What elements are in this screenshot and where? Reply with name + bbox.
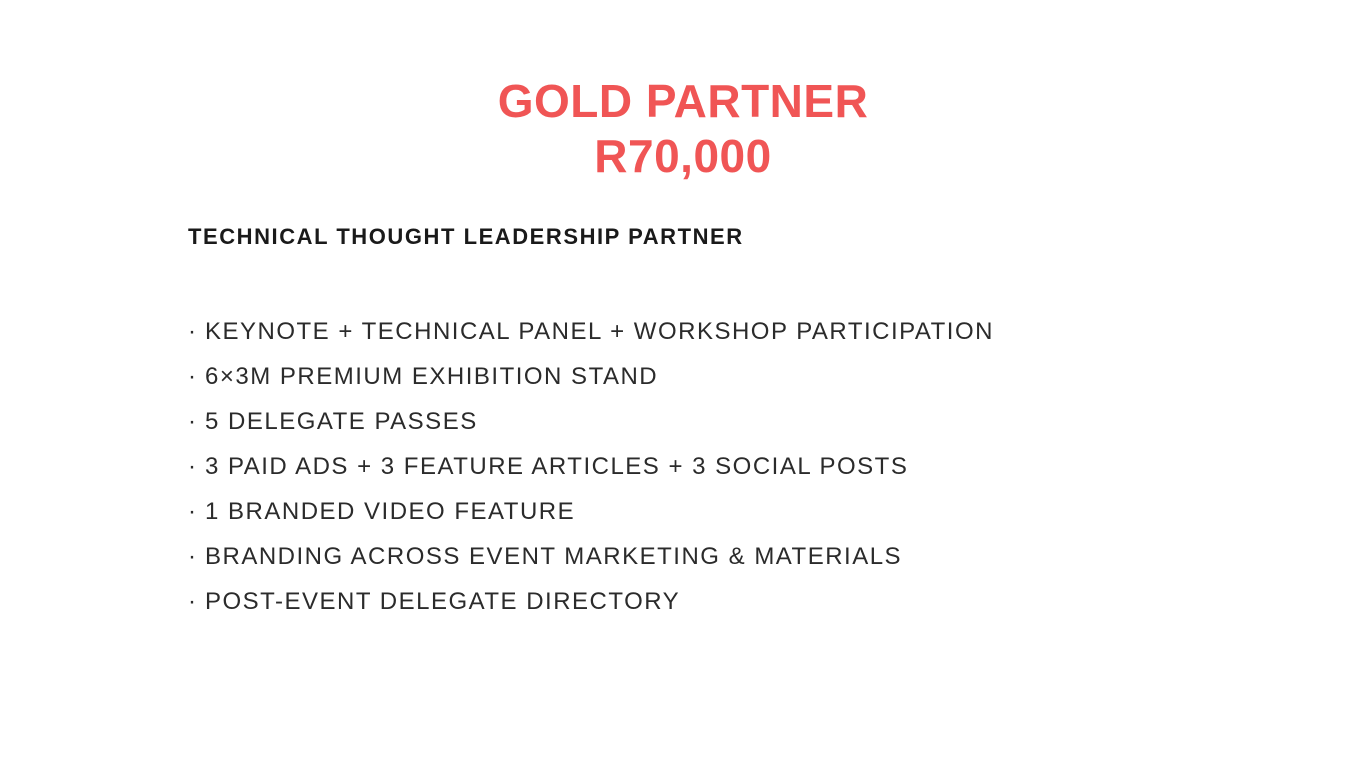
sponsorship-slide: GOLD PARTNER R70,000 TECHNICAL THOUGHT L… — [0, 0, 1366, 768]
list-item-label: KEYNOTE + TECHNICAL PANEL + WORKSHOP PAR… — [205, 318, 994, 345]
bullet-icon: · — [188, 534, 205, 579]
partner-price: R70,000 — [0, 133, 1366, 179]
list-item-label: 5 DELEGATE PASSES — [205, 408, 478, 435]
partner-tier-title: GOLD PARTNER — [0, 78, 1366, 124]
bullet-icon: · — [188, 354, 205, 399]
list-item: ·6×3M PREMIUM EXHIBITION STAND — [188, 354, 1288, 399]
list-item-label: BRANDING ACROSS EVENT MARKETING & MATERI… — [205, 543, 902, 570]
bullet-icon: · — [188, 489, 205, 534]
bullet-icon: · — [188, 444, 205, 489]
title-block: GOLD PARTNER R70,000 — [0, 78, 1366, 179]
list-item: ·BRANDING ACROSS EVENT MARKETING & MATER… — [188, 534, 1288, 579]
list-item-label: 1 BRANDED VIDEO FEATURE — [205, 498, 575, 525]
partner-subtitle: TECHNICAL THOUGHT LEADERSHIP PARTNER — [188, 223, 744, 251]
benefits-list: ·KEYNOTE + TECHNICAL PANEL + WORKSHOP PA… — [188, 309, 1288, 624]
list-item: ·1 BRANDED VIDEO FEATURE — [188, 489, 1288, 534]
list-item-label: POST-EVENT DELEGATE DIRECTORY — [205, 588, 680, 615]
bullet-icon: · — [188, 579, 205, 624]
bullet-icon: · — [188, 309, 205, 354]
list-item: ·3 PAID ADS + 3 FEATURE ARTICLES + 3 SOC… — [188, 444, 1288, 489]
list-item: ·KEYNOTE + TECHNICAL PANEL + WORKSHOP PA… — [188, 309, 1288, 354]
list-item-label: 6×3M PREMIUM EXHIBITION STAND — [205, 363, 658, 390]
bullet-icon: · — [188, 399, 205, 444]
list-item: ·POST-EVENT DELEGATE DIRECTORY — [188, 579, 1288, 624]
list-item: ·5 DELEGATE PASSES — [188, 399, 1288, 444]
list-item-label: 3 PAID ADS + 3 FEATURE ARTICLES + 3 SOCI… — [205, 453, 908, 480]
